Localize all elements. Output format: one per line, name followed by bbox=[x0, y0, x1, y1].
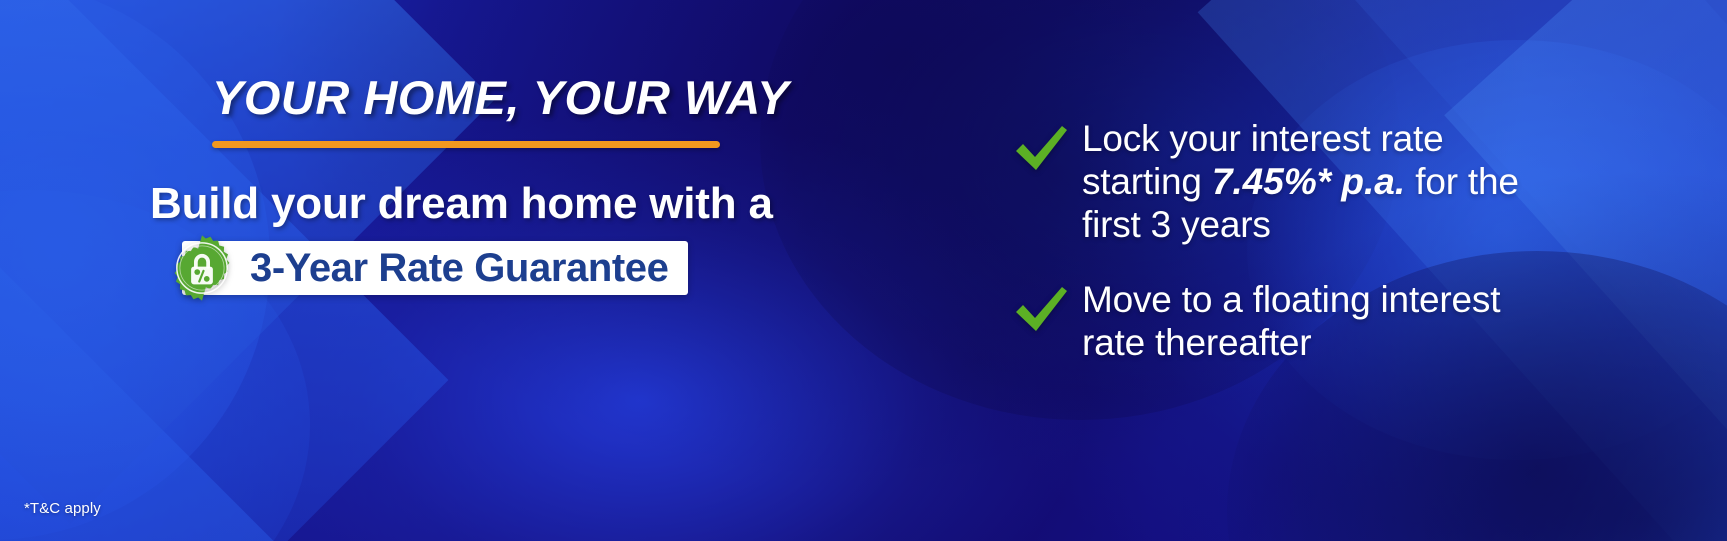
benefit-text: Move to a floating interest rate thereaf… bbox=[1082, 279, 1534, 365]
green-check-icon bbox=[1012, 285, 1070, 335]
benefit-item: Lock your interest rate starting 7.45%* … bbox=[1012, 118, 1572, 247]
terms-footnote: *T&C apply bbox=[24, 500, 101, 517]
benefit-text: Lock your interest rate starting 7.45%* … bbox=[1082, 118, 1534, 247]
banner-headline: YOUR HOME, YOUR WAY bbox=[150, 74, 850, 121]
banner-content: YOUR HOME, YOUR WAY Build your dream hom… bbox=[0, 0, 1727, 541]
benefits-list: Lock your interest rate starting 7.45%* … bbox=[1012, 118, 1572, 365]
headline-block: YOUR HOME, YOUR WAY Build your dream hom… bbox=[150, 74, 850, 295]
benefit-rate-emphasis: 7.45%* p.a. bbox=[1212, 161, 1405, 202]
green-check-icon bbox=[1012, 124, 1070, 174]
rate-guarantee-pill: 3-Year Rate Guarantee bbox=[182, 241, 688, 295]
benefit-text-before: Move to a floating interest rate thereaf… bbox=[1082, 279, 1500, 363]
rate-guarantee-seal-icon bbox=[168, 234, 236, 302]
rate-guarantee-highlight: 3-Year Rate Guarantee bbox=[182, 241, 688, 295]
rate-guarantee-label: 3-Year Rate Guarantee bbox=[250, 248, 668, 288]
headline-underline-rule bbox=[212, 141, 720, 148]
home-loan-promo-banner: YOUR HOME, YOUR WAY Build your dream hom… bbox=[0, 0, 1727, 541]
banner-subheadline: Build your dream home with a bbox=[150, 181, 850, 227]
benefit-item: Move to a floating interest rate thereaf… bbox=[1012, 279, 1572, 365]
